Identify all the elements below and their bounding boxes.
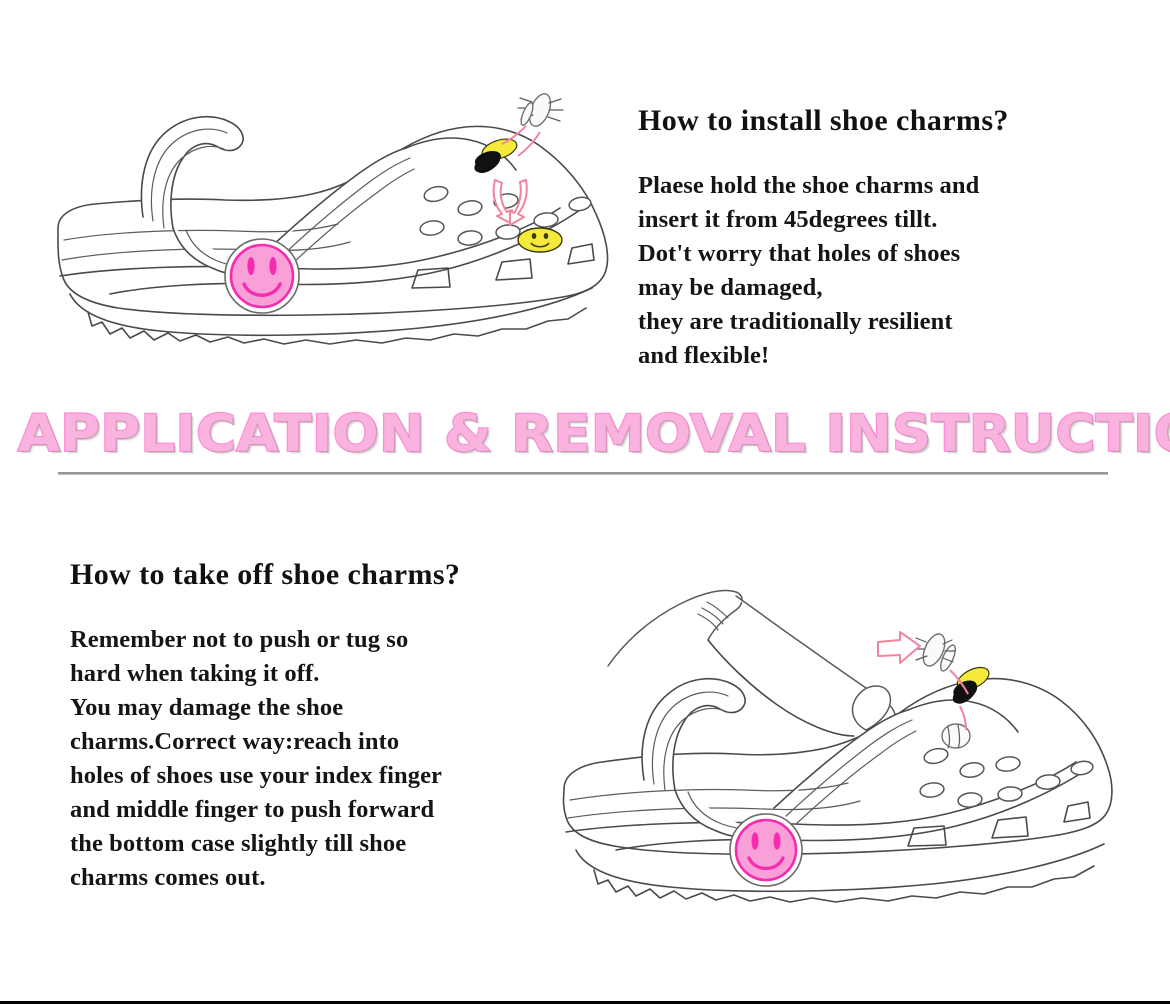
- shoe-removal-svg: [548, 574, 1113, 914]
- removal-body-line: hard when taking it off.: [70, 660, 319, 687]
- install-text-block: How to install shoe charms? Plaese hold …: [638, 104, 1138, 373]
- horizontal-divider: [58, 472, 1108, 475]
- install-heading: How to install shoe charms?: [638, 104, 1138, 139]
- banner: APPLICATION & REMOVAL INSTRUCTIONS: [0, 404, 1170, 476]
- shoe-install-svg: [40, 88, 630, 353]
- charm-pink-smiley-icon: [225, 239, 299, 313]
- charm-pink-smiley-icon: [730, 814, 802, 886]
- removal-body-line: charms.Correct way:reach into: [70, 728, 399, 755]
- charm-profile-icon: [518, 91, 563, 129]
- install-body-line: may be damaged,: [638, 274, 823, 301]
- charm-profile-removing-icon: [914, 631, 958, 673]
- removal-body-line: You may damage the shoe: [70, 694, 343, 721]
- install-body-line: Plaese hold the shoe charms and: [638, 172, 979, 199]
- removal-heading: How to take off shoe charms?: [70, 558, 570, 593]
- clog-shoe-removal-diagram: [548, 574, 1113, 914]
- removal-body-line: holes of shoes use your index finger: [70, 762, 442, 789]
- instruction-sheet: How to install shoe charms? Plaese hold …: [0, 0, 1170, 1001]
- clog-shoe-install-diagram: [40, 88, 630, 353]
- install-body-line: and flexible!: [638, 342, 769, 369]
- install-body-line: Dot't worry that holes of shoes: [638, 240, 960, 267]
- charm-inserted-yellow-icon: [518, 228, 562, 252]
- removal-body-line: Remember not to push or tug so: [70, 626, 408, 653]
- install-body: Plaese hold the shoe charms and insert i…: [638, 169, 1138, 373]
- removal-body-line: and middle finger to push forward: [70, 796, 434, 823]
- removal-section: How to take off shoe charms? Remember no…: [0, 486, 1170, 946]
- install-body-line: insert it from 45degrees tillt.: [638, 206, 938, 233]
- removal-body-line: charms comes out.: [70, 864, 266, 891]
- removal-text-block: How to take off shoe charms? Remember no…: [70, 558, 570, 895]
- removal-body-line: the bottom case slightly till shoe: [70, 830, 406, 857]
- removal-body: Remember not to push or tug so hard when…: [70, 623, 570, 895]
- install-body-line: they are traditionally resilient: [638, 308, 953, 335]
- install-section: How to install shoe charms? Plaese hold …: [0, 0, 1170, 400]
- banner-title: APPLICATION & REMOVAL INSTRUCTIONS: [18, 404, 1170, 466]
